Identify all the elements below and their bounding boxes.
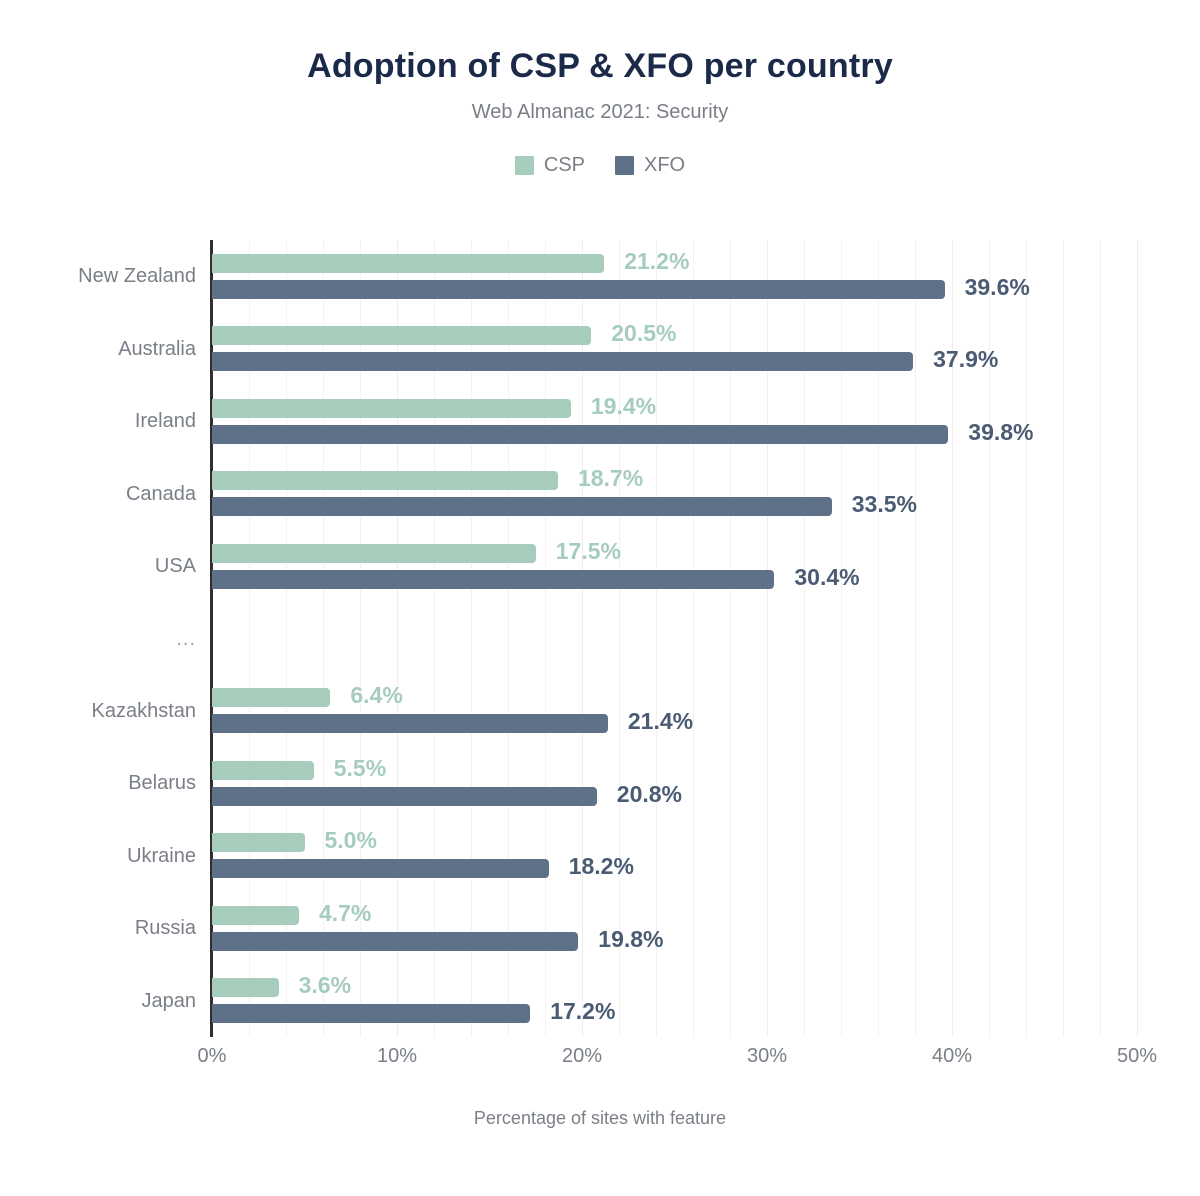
gridline [952,240,953,1037]
gridline [360,240,361,1037]
gridline [1026,240,1027,1037]
bar-xfo[interactable] [212,570,774,589]
bar-xfo[interactable] [212,1004,530,1023]
plot-canvas: 21.2%39.6%20.5%37.9%19.4%39.8%18.7%33.5%… [212,240,1137,1037]
legend-label-xfo: XFO [644,154,685,177]
bar-xfo[interactable] [212,497,832,516]
bar-value-label: 5.0% [325,831,377,850]
x-axis-title: Percentage of sites with feature [0,1108,1200,1129]
y-axis-label: Russia [135,918,196,938]
chart-legend: CSP XFO [0,154,1200,177]
page-title: Adoption of CSP & XFO per country [0,48,1200,85]
chart-row: 19.4%39.8% [212,385,1137,457]
gridline [693,240,694,1037]
x-axis-ticks: 0%10%20%30%40%50% [212,1045,1137,1075]
x-axis-tick-label: 30% [747,1045,787,1068]
bar-xfo[interactable] [212,352,913,371]
x-axis-tick-label: 0% [198,1045,227,1068]
gridline [804,240,805,1037]
gridline [915,240,916,1037]
bar-csp[interactable] [212,399,571,418]
bar-value-label: 5.5% [334,759,386,778]
x-axis-tick-label: 40% [932,1045,972,1068]
gridline [249,240,250,1037]
gridline [434,240,435,1037]
gridline [1137,240,1138,1037]
y-axis-label: Kazakhstan [91,701,196,721]
legend-swatch-xfo-icon [615,156,634,175]
gridline [582,240,583,1037]
chart-plot-area: New ZealandAustraliaIrelandCanadaUSA...K… [0,0,1200,1196]
bar-xfo[interactable] [212,425,948,444]
y-axis-label: Ireland [135,411,196,431]
bar-csp[interactable] [212,833,305,852]
legend-item-xfo[interactable]: XFO [615,154,685,177]
y-axis-label: Belarus [128,773,196,793]
bar-value-label: 39.8% [968,423,1033,442]
bar-xfo[interactable] [212,714,608,733]
bar-xfo[interactable] [212,932,578,951]
gridline [471,240,472,1037]
gridline [545,240,546,1037]
y-axis-label: ... [176,629,196,649]
gridline [1063,240,1064,1037]
gridline [767,240,768,1037]
bar-value-label: 19.4% [591,397,656,416]
y-axis-labels: New ZealandAustraliaIrelandCanadaUSA...K… [0,240,196,1037]
bar-value-label: 37.9% [933,350,998,369]
chart-row: 4.7%19.8% [212,892,1137,964]
bar-value-label: 18.7% [578,469,643,488]
y-axis-label: Ukraine [127,846,196,866]
bar-value-label: 30.4% [794,568,859,587]
bar-value-label: 21.4% [628,712,693,731]
bar-xfo[interactable] [212,787,597,806]
y-axis-label: Canada [126,484,196,504]
legend-item-csp[interactable]: CSP [515,154,585,177]
bar-value-label: 4.7% [319,904,371,923]
bar-csp[interactable] [212,254,604,273]
gridline [508,240,509,1037]
x-axis-tick-label: 50% [1117,1045,1157,1068]
bar-value-label: 19.8% [598,930,663,949]
x-axis-tick-label: 10% [377,1045,417,1068]
chart-row: 17.5%30.4% [212,530,1137,602]
bar-value-label: 21.2% [624,252,689,271]
x-axis-tick-label: 20% [562,1045,602,1068]
legend-label-csp: CSP [544,154,585,177]
chart-row: 21.2%39.6% [212,240,1137,312]
bar-csp[interactable] [212,906,299,925]
bar-csp[interactable] [212,471,558,490]
y-axis-line [210,240,213,1037]
bar-csp[interactable] [212,544,536,563]
bar-value-label: 17.5% [556,542,621,561]
gridline [656,240,657,1037]
y-axis-label: USA [155,556,196,576]
bar-xfo[interactable] [212,859,549,878]
chart-row: 5.0%18.2% [212,820,1137,892]
bar-value-label: 39.6% [965,278,1030,297]
bar-value-label: 18.2% [569,857,634,876]
gridline [1100,240,1101,1037]
bar-csp[interactable] [212,978,279,997]
bar-csp[interactable] [212,326,591,345]
chart-row: 20.5%37.9% [212,312,1137,384]
chart-row: 6.4%21.4% [212,675,1137,747]
gridline [286,240,287,1037]
y-axis-label: Japan [142,991,197,1011]
chart-row: 3.6%17.2% [212,965,1137,1037]
gridline [989,240,990,1037]
bar-value-label: 20.8% [617,785,682,804]
gridline [730,240,731,1037]
y-axis-label: Australia [118,339,196,359]
gridline [878,240,879,1037]
chart-row: 5.5%20.8% [212,747,1137,819]
chart-header: Adoption of CSP & XFO per country Web Al… [0,0,1200,177]
bar-value-label: 17.2% [550,1002,615,1021]
y-axis-label: New Zealand [78,266,196,286]
bar-csp[interactable] [212,688,330,707]
bar-value-label: 6.4% [350,686,402,705]
bar-csp[interactable] [212,761,314,780]
chart-row [212,602,1137,674]
chart-subtitle: Web Almanac 2021: Security [0,101,1200,124]
bar-value-label: 33.5% [852,495,917,514]
bar-value-label: 3.6% [299,976,351,995]
gridline [619,240,620,1037]
bar-value-label: 20.5% [611,324,676,343]
gridline [841,240,842,1037]
chart-row: 18.7%33.5% [212,457,1137,529]
legend-swatch-csp-icon [515,156,534,175]
bar-xfo[interactable] [212,280,945,299]
gridline [397,240,398,1037]
gridline [323,240,324,1037]
